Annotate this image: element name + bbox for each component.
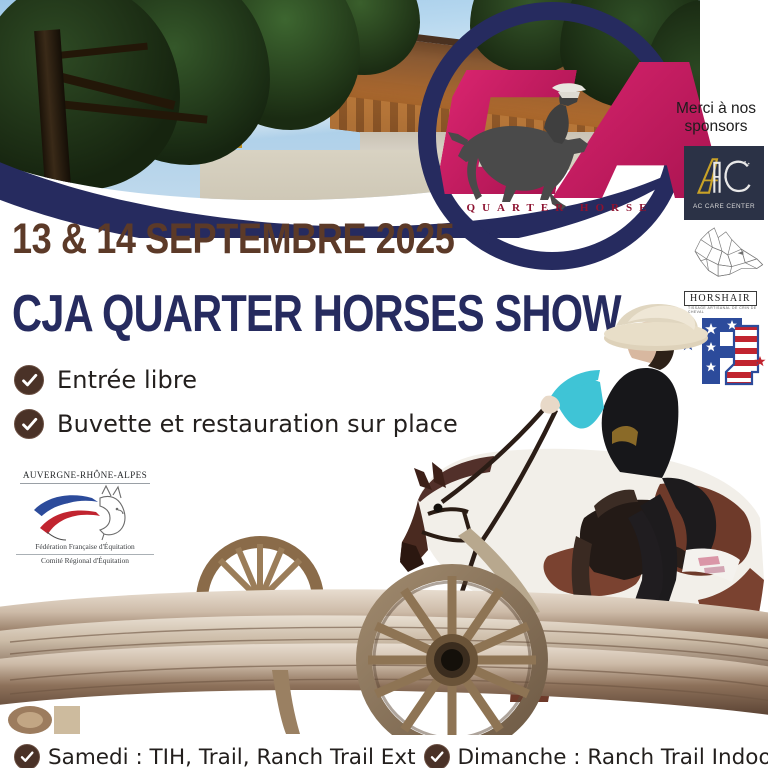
- trail-obstacle-photo: [0, 520, 768, 735]
- sponsor-ac-label: AC CARE CENTER: [689, 203, 759, 210]
- sponsors-heading: Merci à nos sponsors: [664, 100, 768, 137]
- schedule-saturday-label: Samedi : TIH, Trail, Ranch Trail Ext: [48, 745, 416, 768]
- federation-region: AUVERGNE-RHÔNE-ALPES: [14, 470, 156, 480]
- check-circle-icon: [14, 409, 44, 439]
- feature-label: Entrée libre: [57, 366, 197, 394]
- schedule-strip: Samedi : TIH, Trail, Ranch Trail Ext Dim…: [0, 740, 768, 768]
- check-circle-icon: [424, 744, 450, 768]
- event-poster: QUARTER HORSE Merci à nos sponsors AC CA…: [0, 0, 768, 768]
- list-item: Samedi : TIH, Trail, Ranch Trail Ext: [14, 744, 416, 768]
- list-item: Dimanche : Ranch Trail Indoor: [424, 744, 768, 768]
- features-list: Entrée libre Buvette et restauration sur…: [14, 365, 458, 453]
- cja-logo: QUARTER HORSE: [440, 52, 666, 222]
- list-item: Buvette et restauration sur place: [14, 409, 458, 439]
- event-date: 13 & 14 SEPTEMBRE 2025: [12, 218, 454, 261]
- reining-horse-and-rider-silhouette-icon: [448, 82, 638, 212]
- ac-monogram-icon: [689, 154, 759, 198]
- logo-tagline: QUARTER HORSE: [440, 202, 680, 214]
- check-circle-icon: [14, 744, 40, 768]
- list-item: Entrée libre: [14, 365, 458, 395]
- schedule-sunday-label: Dimanche : Ranch Trail Indoor: [458, 745, 768, 768]
- sponsor-logo-ac-care-center: AC CARE CENTER: [684, 146, 764, 220]
- check-circle-icon: [14, 365, 44, 395]
